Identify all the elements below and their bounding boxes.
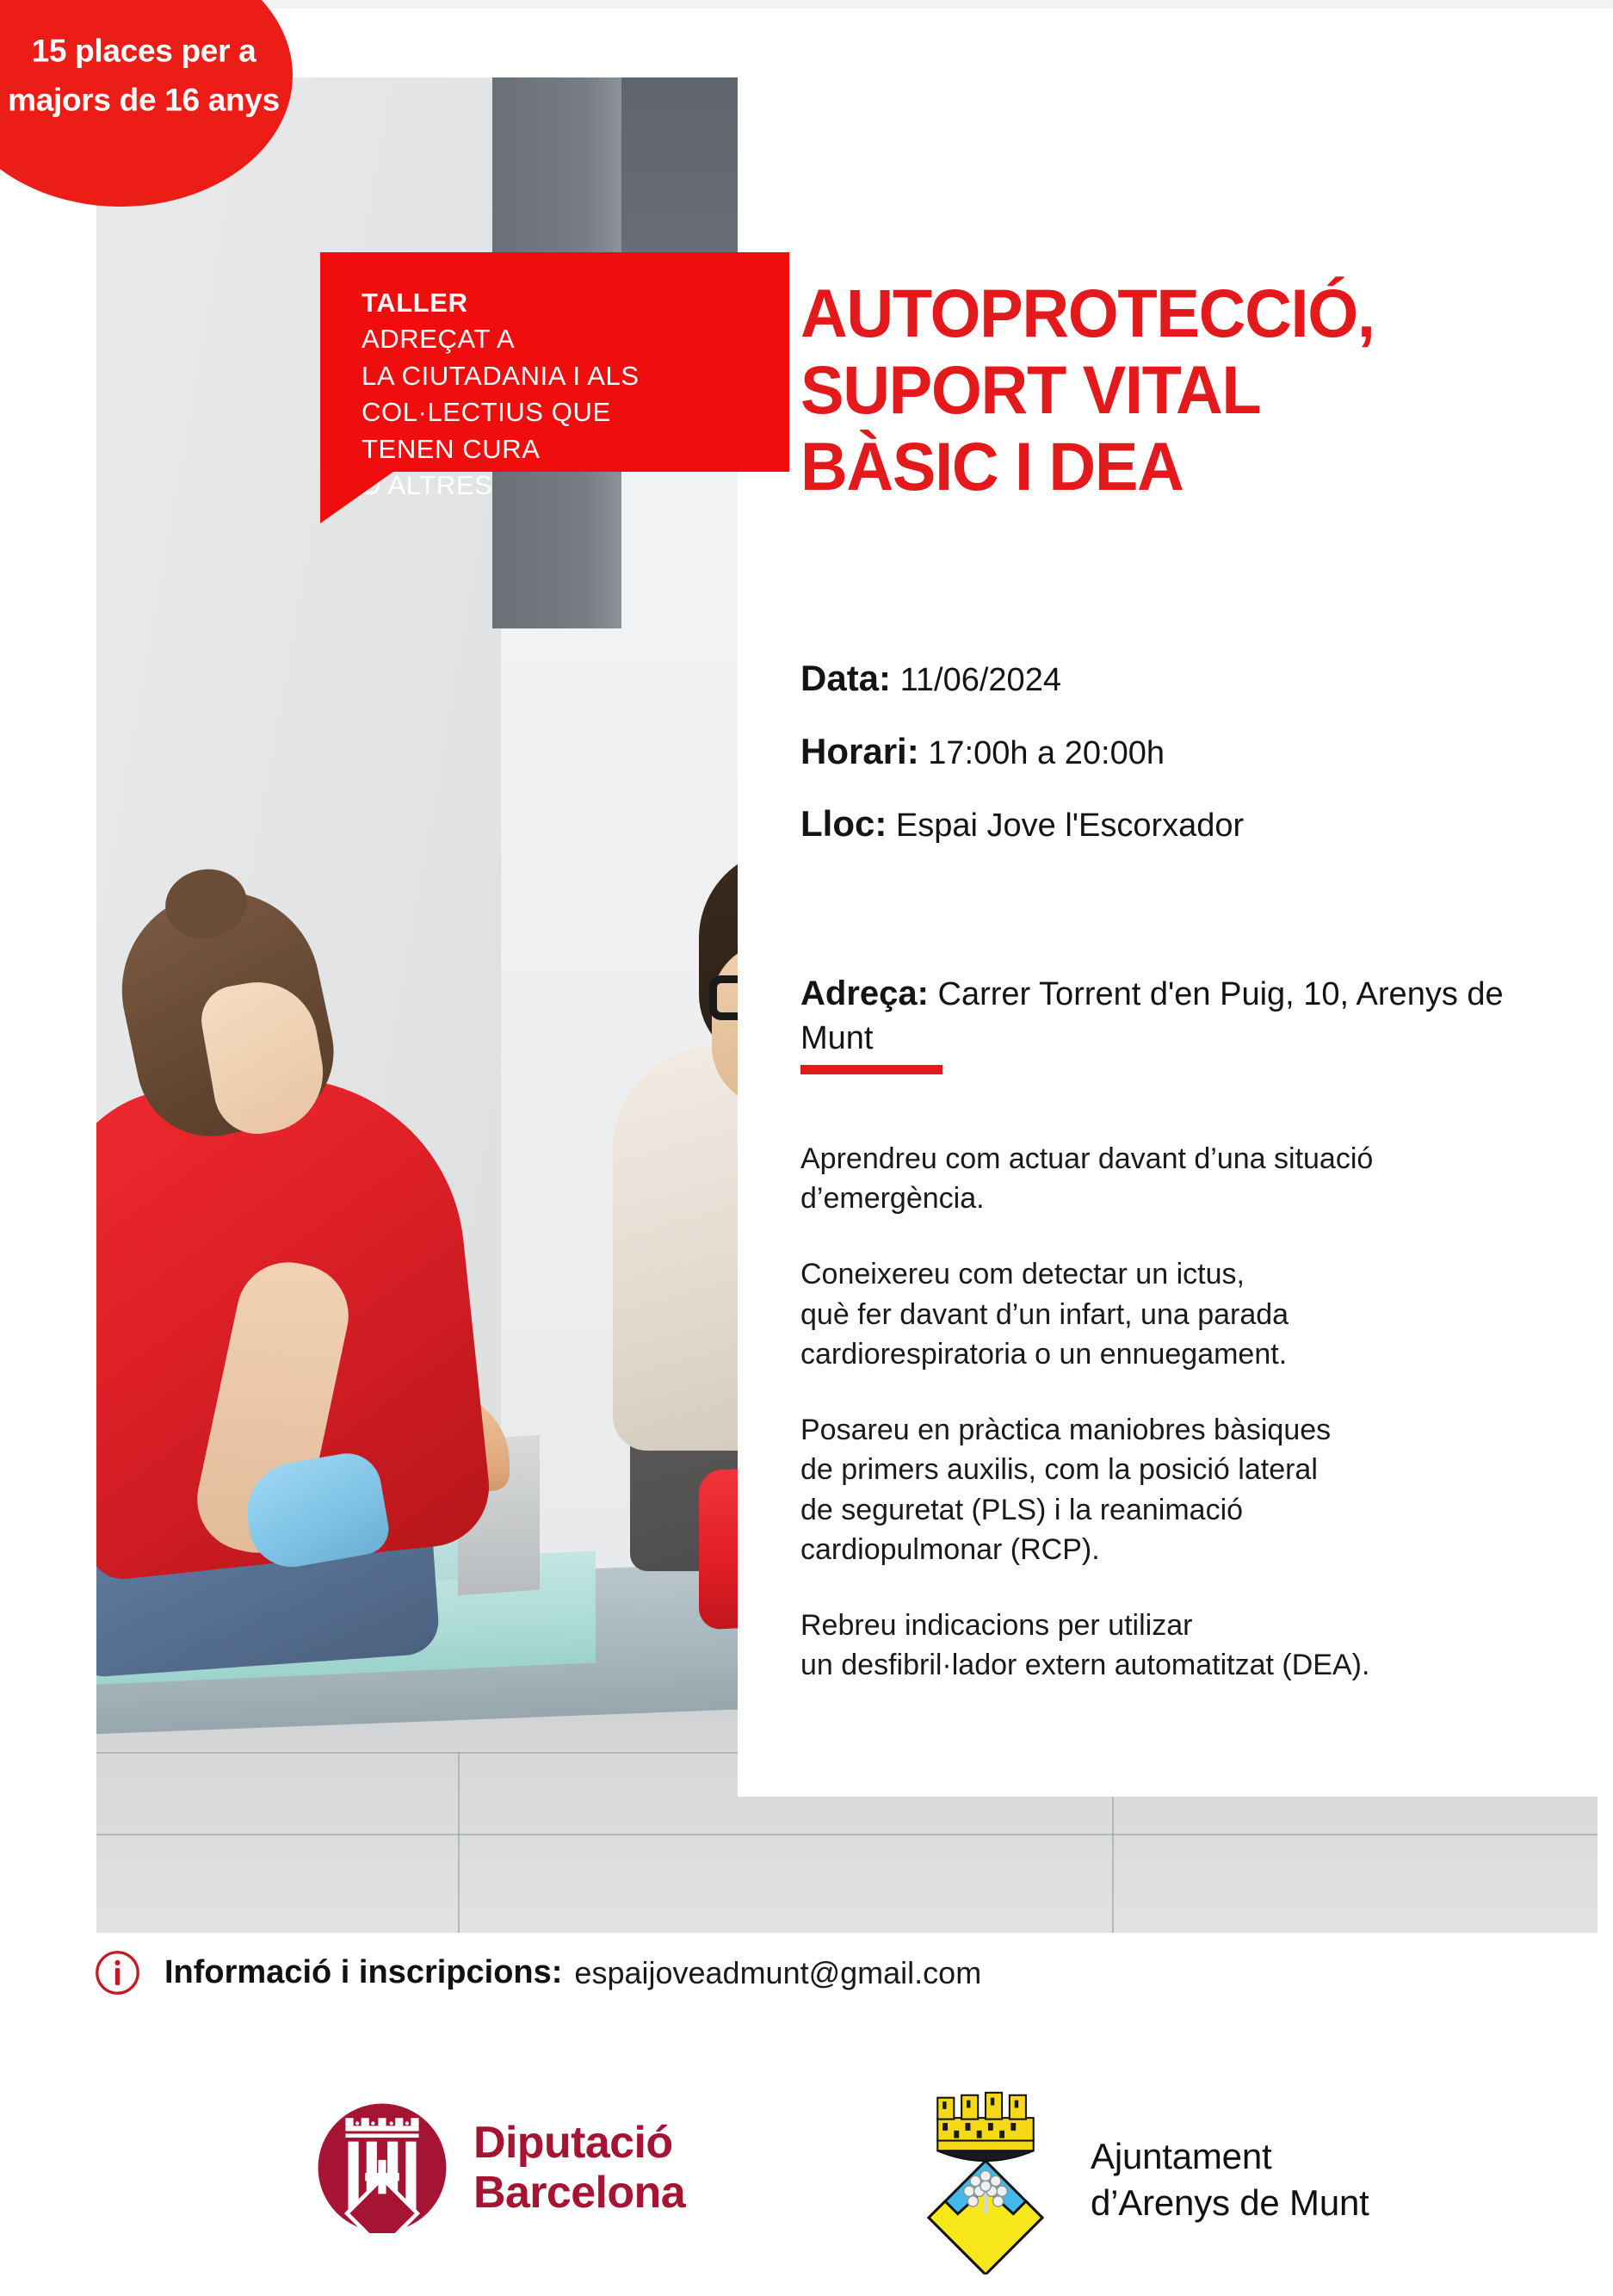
ajuntament-arenys-logo: Ajuntament d’Arenys de Munt <box>908 2085 1369 2274</box>
paragraph-2: Coneixereu com detectar un ictus, què fe… <box>800 1254 1575 1374</box>
detail-row-lloc: Lloc: Espai Jove l'Escorxador <box>800 801 1584 847</box>
detail-value-horari: 17:00h a 20:00h <box>928 735 1165 771</box>
contact-label: Informació i inscripcions: <box>164 1954 562 1991</box>
logo-row: Diputació Barcelona <box>0 2092 1613 2281</box>
event-details: Data: 11/06/2024 Horari: 17:00h a 20:00h… <box>800 656 1584 875</box>
ajuntament-wordmark: Ajuntament d’Arenys de Munt <box>1091 2133 1369 2226</box>
taller-callout-lines: ADREÇAT A LA CIUTADANIA I ALS COL·LECTIU… <box>362 321 640 504</box>
paragraph-1: Aprendreu com actuar davant d’una situac… <box>800 1139 1575 1218</box>
detail-value-data: 11/06/2024 <box>900 662 1061 698</box>
ajuntament-line-1: Ajuntament <box>1091 2133 1369 2180</box>
detail-row-data: Data: 11/06/2024 <box>800 656 1584 702</box>
address-key: Adreça: <box>800 975 929 1012</box>
paragraph-4: Rebreu indicacions per utilizar un desfi… <box>800 1606 1575 1685</box>
taller-callout-heading: TALLER <box>362 285 640 321</box>
photo-floor-line <box>458 1752 460 1933</box>
diputacio-barcelona-wordmark: Diputació Barcelona <box>473 2118 685 2218</box>
taller-callout: TALLER ADREÇAT A LA CIUTADANIA I ALS COL… <box>320 252 789 472</box>
detail-key-horari: Horari: <box>800 731 919 771</box>
taller-callout-tail <box>320 472 393 523</box>
detail-row-horari: Horari: 17:00h a 20:00h <box>800 729 1584 775</box>
ajuntament-line-2: d’Arenys de Munt <box>1091 2180 1369 2226</box>
description-body: Aprendreu com actuar davant d’una situac… <box>800 1139 1575 1722</box>
page-title: AUTOPROTECCIÓ, SUPORT VITAL BÀSIC I DEA <box>800 275 1560 505</box>
diputacio-line-2: Barcelona <box>473 2168 685 2218</box>
taller-callout-content: TALLER ADREÇAT A LA CIUTADANIA I ALS COL… <box>362 285 640 504</box>
poster-root: 15 places per a majors de 16 anys TALLER… <box>0 0 1613 2296</box>
address-red-rule <box>800 1065 942 1074</box>
info-circle-icon <box>95 1950 140 1996</box>
diputacio-line-1: Diputació <box>473 2118 685 2168</box>
event-address: Adreça: Carrer Torrent d'en Puig, 10, Ar… <box>800 971 1575 1061</box>
arenys-de-munt-coat-of-arms-icon <box>908 2085 1063 2274</box>
detail-value-lloc: Espai Jove l'Escorxador <box>896 808 1244 844</box>
photo-floor-line <box>96 1834 1598 1835</box>
detail-key-lloc: Lloc: <box>800 803 887 844</box>
places-badge-text: 15 places per a majors de 16 anys <box>0 26 293 125</box>
diputacio-barcelona-crest-icon <box>317 2102 448 2233</box>
contact-email[interactable]: espaijoveadmunt@gmail.com <box>574 1955 981 1991</box>
contact-line: Informació i inscripcions: espaijoveadmu… <box>95 1950 981 1996</box>
paragraph-3: Posareu en pràctica maniobres bàsiques d… <box>800 1410 1575 1569</box>
detail-key-data: Data: <box>800 658 891 698</box>
diputacio-barcelona-logo: Diputació Barcelona <box>317 2102 685 2233</box>
